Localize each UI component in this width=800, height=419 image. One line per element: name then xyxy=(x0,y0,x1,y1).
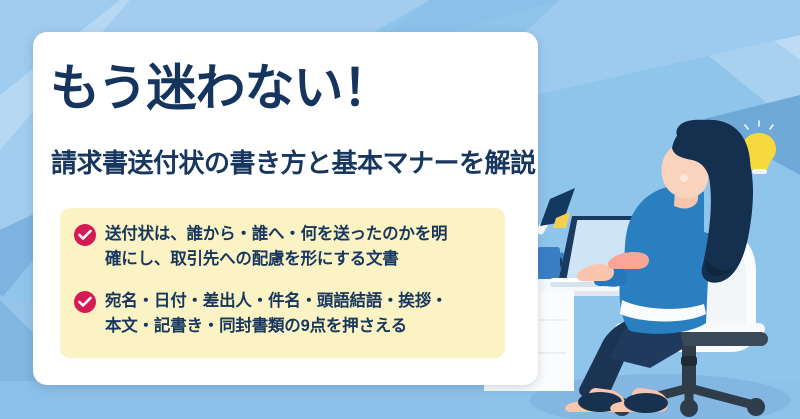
list-item: 送付状は、誰から・誰へ・何を送ったのかを明 確にし、取引先への配慮を形にする文書 xyxy=(74,222,489,272)
list-item-line: 送付状は、誰から・誰へ・何を送ったのかを明 xyxy=(105,225,447,243)
list-item-text: 送付状は、誰から・誰へ・何を送ったのかを明 確にし、取引先への配慮を形にする文書 xyxy=(105,222,447,272)
check-circle-icon xyxy=(74,291,96,313)
key-points-box: 送付状は、誰から・誰へ・何を送ったのかを明 確にし、取引先への配慮を形にする文書… xyxy=(60,208,505,358)
list-item-line: 宛名・日付・差出人・件名・頭語結語・挨拶・ xyxy=(105,292,447,310)
woman-figure xyxy=(565,120,753,413)
list-item-line: 本文・記書き・同封書類の9点を押さえる xyxy=(105,317,407,335)
list-item-line: 確にし、取引先への配慮を形にする文書 xyxy=(105,250,399,268)
infographic-banner: もう迷わない！ 請求書送付状の書き方と基本マナーを解説 送付状は、誰から・誰へ・… xyxy=(0,0,800,419)
page-title: もう迷わない！ xyxy=(50,63,392,113)
list-item-text: 宛名・日付・差出人・件名・頭語結語・挨拶・ 本文・記書き・同封書類の9点を押さえ… xyxy=(105,289,447,339)
check-circle-icon xyxy=(74,224,96,246)
content-card: もう迷わない！ 請求書送付状の書き方と基本マナーを解説 送付状は、誰から・誰へ・… xyxy=(33,32,538,385)
page-subtitle: 請求書送付状の書き方と基本マナーを解説 xyxy=(51,150,536,176)
list-item: 宛名・日付・差出人・件名・頭語結語・挨拶・ 本文・記書き・同封書類の9点を押さえ… xyxy=(74,289,489,339)
